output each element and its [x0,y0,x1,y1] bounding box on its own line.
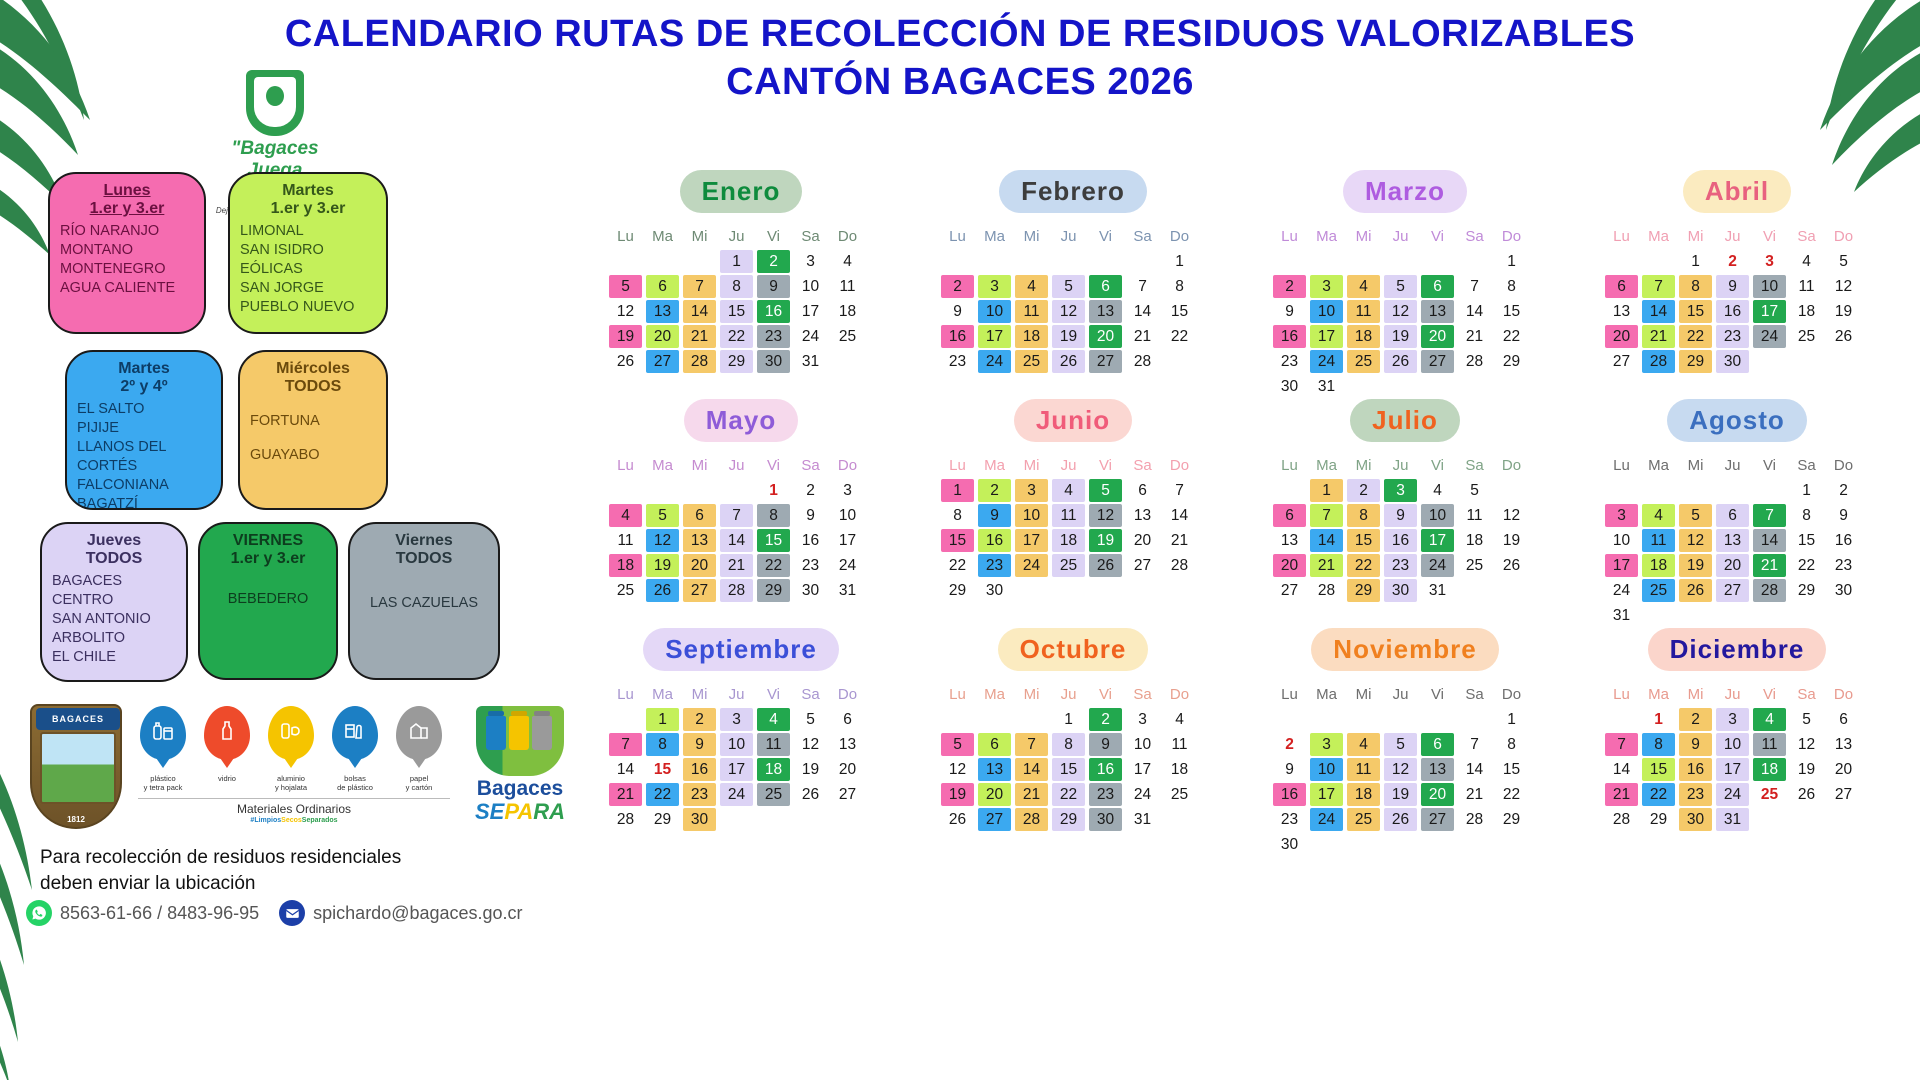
day-cell-collection[interactable]: 17 [1605,554,1638,577]
day-cell[interactable]: 21 [1126,325,1159,348]
day-cell-collection[interactable]: 5 [609,275,642,298]
day-cell[interactable]: 23 [1827,554,1860,577]
day-cell[interactable]: 28 [1605,808,1638,831]
day-cell[interactable]: 30 [1827,579,1860,602]
day-cell-collection[interactable]: 12 [1679,529,1712,552]
day-cell[interactable]: 12 [941,758,974,781]
day-cell[interactable]: 1 [1790,479,1823,502]
day-cell-collection[interactable]: 19 [646,554,679,577]
day-cell[interactable]: 21 [1163,529,1196,552]
day-cell-collection[interactable]: 3 [720,708,753,731]
day-cell-collection[interactable]: 9 [1679,733,1712,756]
day-cell[interactable]: 19 [794,758,827,781]
day-cell[interactable]: 9 [1827,504,1860,527]
day-cell[interactable]: 13 [831,733,864,756]
day-cell[interactable]: 22 [1495,783,1528,806]
day-cell[interactable]: 14 [1163,504,1196,527]
day-cell-collection[interactable]: 8 [720,275,753,298]
day-cell-collection[interactable]: 2 [683,708,716,731]
day-cell-collection[interactable]: 25 [1642,579,1675,602]
day-cell-collection[interactable]: 5 [646,504,679,527]
day-cell[interactable]: 19 [1790,758,1823,781]
day-cell[interactable]: 27 [831,783,864,806]
route-card-miercoles[interactable]: Miércoles TODOS FORTUNA GUAYABO [238,350,388,510]
day-cell[interactable]: 14 [1605,758,1638,781]
day-cell-collection[interactable]: 24 [1753,325,1786,348]
day-cell-collection[interactable]: 18 [1015,325,1048,348]
day-cell-collection[interactable]: 16 [1273,783,1306,806]
day-cell-collection[interactable]: 19 [1384,325,1417,348]
day-cell[interactable]: 12 [1827,275,1860,298]
day-cell[interactable]: 10 [1126,733,1159,756]
day-cell-collection[interactable]: 26 [1384,350,1417,373]
day-cell[interactable]: 9 [1273,300,1306,323]
day-cell[interactable]: 9 [1273,758,1306,781]
day-cell-collection[interactable]: 20 [1421,783,1454,806]
day-cell-collection[interactable]: 11 [1642,529,1675,552]
day-cell[interactable]: 12 [794,733,827,756]
day-cell[interactable]: 16 [794,529,827,552]
day-cell[interactable]: 13 [1827,733,1860,756]
day-cell[interactable]: 28 [1126,350,1159,373]
day-cell-holiday[interactable]: 1 [1642,708,1675,731]
day-cell-collection[interactable]: 16 [683,758,716,781]
day-cell[interactable]: 1 [1052,708,1085,731]
day-cell[interactable]: 31 [794,350,827,373]
day-cell-collection[interactable]: 28 [1642,350,1675,373]
day-cell-collection[interactable]: 13 [683,529,716,552]
day-cell-collection[interactable]: 21 [683,325,716,348]
day-cell[interactable]: 29 [1495,350,1528,373]
day-cell[interactable]: 29 [646,808,679,831]
day-cell[interactable]: 10 [831,504,864,527]
day-cell-collection[interactable]: 18 [1347,325,1380,348]
day-cell[interactable]: 6 [831,708,864,731]
day-cell[interactable]: 29 [941,579,974,602]
day-cell-collection[interactable]: 14 [1642,300,1675,323]
day-cell[interactable]: 8 [941,504,974,527]
day-cell[interactable]: 11 [1790,275,1823,298]
day-cell[interactable]: 6 [1827,708,1860,731]
day-cell-collection[interactable]: 14 [1753,529,1786,552]
day-cell[interactable]: 25 [1163,783,1196,806]
day-cell-collection[interactable]: 22 [1642,783,1675,806]
day-cell-collection[interactable]: 15 [1052,758,1085,781]
day-cell[interactable]: 15 [1790,529,1823,552]
day-cell[interactable]: 30 [1273,375,1306,398]
day-cell[interactable]: 31 [831,579,864,602]
day-cell-collection[interactable]: 15 [720,300,753,323]
day-cell[interactable]: 26 [1790,783,1823,806]
route-card-viernes-1er-3er[interactable]: VIERNES 1.er y 3.er BEBEDERO [198,522,338,680]
day-cell-collection[interactable]: 3 [1015,479,1048,502]
day-cell[interactable]: 15 [1163,300,1196,323]
day-cell-collection[interactable]: 13 [1421,300,1454,323]
day-cell[interactable]: 25 [831,325,864,348]
day-cell[interactable]: 23 [1273,350,1306,373]
day-cell[interactable]: 27 [1827,783,1860,806]
day-cell[interactable]: 1 [1679,250,1712,273]
day-cell[interactable]: 26 [1827,325,1860,348]
day-cell-collection[interactable]: 27 [1421,808,1454,831]
day-cell[interactable]: 15 [1495,300,1528,323]
day-cell-collection[interactable]: 6 [1089,275,1122,298]
day-cell-collection[interactable]: 5 [941,733,974,756]
day-cell-collection[interactable]: 11 [757,733,790,756]
day-cell-collection[interactable]: 9 [1384,504,1417,527]
day-cell-collection[interactable]: 7 [1605,733,1638,756]
day-cell[interactable]: 13 [1126,504,1159,527]
day-cell-collection[interactable]: 2 [941,275,974,298]
day-cell-collection[interactable]: 17 [720,758,753,781]
day-cell[interactable]: 18 [1163,758,1196,781]
day-cell-collection[interactable]: 21 [609,783,642,806]
day-cell-collection[interactable]: 10 [1421,504,1454,527]
day-cell-collection[interactable]: 10 [1753,275,1786,298]
day-cell[interactable]: 8 [1163,275,1196,298]
day-cell-collection[interactable]: 18 [1052,529,1085,552]
route-card-lunes[interactable]: Lunes 1.er y 3.er RÍO NARANJO MONTANO MO… [48,172,206,334]
route-card-martes-2-4[interactable]: Martes 2º y 4º EL SALTO PIJIJE LLANOS DE… [65,350,223,510]
day-cell-collection[interactable]: 22 [1052,783,1085,806]
day-cell-collection[interactable]: 23 [978,554,1011,577]
day-cell-collection[interactable]: 25 [1347,350,1380,373]
day-cell-collection[interactable]: 12 [1089,504,1122,527]
day-cell-collection[interactable]: 23 [757,325,790,348]
day-cell-collection[interactable]: 22 [757,554,790,577]
day-cell[interactable]: 31 [1605,604,1638,627]
day-cell-collection[interactable]: 17 [1753,300,1786,323]
day-cell-collection[interactable]: 4 [1015,275,1048,298]
day-cell-collection[interactable]: 22 [720,325,753,348]
day-cell[interactable]: 17 [1126,758,1159,781]
day-cell[interactable]: 9 [794,504,827,527]
day-cell-holiday[interactable]: 15 [646,758,679,781]
day-cell[interactable]: 17 [831,529,864,552]
day-cell-collection[interactable]: 26 [1679,579,1712,602]
day-cell-collection[interactable]: 20 [646,325,679,348]
day-cell[interactable]: 31 [1421,579,1454,602]
day-cell-collection[interactable]: 24 [1421,554,1454,577]
day-cell-holiday[interactable]: 1 [757,479,790,502]
day-cell-collection[interactable]: 6 [1273,504,1306,527]
day-cell-collection[interactable]: 16 [941,325,974,348]
day-cell[interactable]: 25 [609,579,642,602]
day-cell-collection[interactable]: 17 [1310,325,1343,348]
day-cell-collection[interactable]: 12 [1384,758,1417,781]
day-cell-collection[interactable]: 8 [1052,733,1085,756]
day-cell[interactable]: 11 [831,275,864,298]
day-cell[interactable]: 25 [1458,554,1491,577]
day-cell[interactable]: 20 [1126,529,1159,552]
day-cell[interactable]: 4 [1421,479,1454,502]
day-cell-collection[interactable]: 29 [720,350,753,373]
day-cell-collection[interactable]: 4 [1347,733,1380,756]
day-cell-collection[interactable]: 27 [1089,350,1122,373]
day-cell-collection[interactable]: 5 [1089,479,1122,502]
whatsapp-icon[interactable] [26,900,52,926]
day-cell-collection[interactable]: 5 [1052,275,1085,298]
day-cell[interactable]: 21 [1458,325,1491,348]
day-cell-collection[interactable]: 14 [683,300,716,323]
day-cell[interactable]: 26 [794,783,827,806]
day-cell[interactable]: 8 [1495,275,1528,298]
day-cell-collection[interactable]: 30 [1384,579,1417,602]
day-cell-collection[interactable]: 3 [1605,504,1638,527]
day-cell-collection[interactable]: 23 [683,783,716,806]
day-cell-collection[interactable]: 11 [1347,300,1380,323]
day-cell-collection[interactable]: 11 [1347,758,1380,781]
day-cell[interactable]: 23 [1273,808,1306,831]
day-cell[interactable]: 13 [1605,300,1638,323]
day-cell-collection[interactable]: 8 [1642,733,1675,756]
day-cell-collection[interactable]: 24 [1310,808,1343,831]
day-cell[interactable]: 8 [1790,504,1823,527]
day-cell[interactable]: 19 [1495,529,1528,552]
day-cell-collection[interactable]: 11 [1052,504,1085,527]
day-cell-collection[interactable]: 16 [1679,758,1712,781]
day-cell-collection[interactable]: 21 [1310,554,1343,577]
day-cell[interactable]: 28 [609,808,642,831]
day-cell-collection[interactable]: 19 [941,783,974,806]
day-cell-collection[interactable]: 6 [1421,275,1454,298]
day-cell-collection[interactable]: 13 [978,758,1011,781]
day-cell-collection[interactable]: 21 [1753,554,1786,577]
day-cell-collection[interactable]: 14 [1310,529,1343,552]
day-cell-collection[interactable]: 12 [646,529,679,552]
day-cell-collection[interactable]: 16 [1273,325,1306,348]
day-cell-collection[interactable]: 7 [1015,733,1048,756]
day-cell-collection[interactable]: 2 [757,250,790,273]
day-cell[interactable]: 5 [1458,479,1491,502]
day-cell-collection[interactable]: 25 [757,783,790,806]
day-cell-collection[interactable]: 7 [609,733,642,756]
day-cell-collection[interactable]: 1 [720,250,753,273]
day-cell[interactable]: 5 [1790,708,1823,731]
day-cell-collection[interactable]: 23 [1384,554,1417,577]
day-cell[interactable]: 27 [1126,554,1159,577]
day-cell-collection[interactable]: 4 [757,708,790,731]
day-cell[interactable]: 18 [1458,529,1491,552]
day-cell-collection[interactable]: 7 [720,504,753,527]
day-cell-collection[interactable]: 11 [1753,733,1786,756]
day-cell-holiday[interactable]: 3 [1753,250,1786,273]
day-cell-collection[interactable]: 15 [757,529,790,552]
day-cell-collection[interactable]: 28 [683,350,716,373]
day-cell-collection[interactable]: 6 [978,733,1011,756]
day-cell[interactable]: 1 [1495,708,1528,731]
day-cell-collection[interactable]: 9 [1716,275,1749,298]
day-cell-collection[interactable]: 24 [1015,554,1048,577]
day-cell-collection[interactable]: 29 [1052,808,1085,831]
day-cell[interactable]: 7 [1163,479,1196,502]
day-cell-collection[interactable]: 10 [1310,758,1343,781]
day-cell-collection[interactable]: 25 [1052,554,1085,577]
day-cell-collection[interactable]: 8 [757,504,790,527]
day-cell[interactable]: 3 [831,479,864,502]
day-cell-collection[interactable]: 6 [683,504,716,527]
day-cell-collection[interactable]: 30 [1679,808,1712,831]
day-cell[interactable]: 2 [1827,479,1860,502]
day-cell-collection[interactable]: 8 [646,733,679,756]
day-cell-collection[interactable]: 13 [1089,300,1122,323]
day-cell[interactable]: 27 [1273,579,1306,602]
day-cell[interactable]: 24 [1126,783,1159,806]
day-cell-collection[interactable]: 1 [646,708,679,731]
day-cell-collection[interactable]: 2 [978,479,1011,502]
day-cell-collection[interactable]: 21 [1642,325,1675,348]
day-cell[interactable]: 4 [831,250,864,273]
day-cell-collection[interactable]: 17 [1310,783,1343,806]
day-cell[interactable]: 17 [794,300,827,323]
day-cell-collection[interactable]: 29 [1347,579,1380,602]
day-cell-collection[interactable]: 9 [1089,733,1122,756]
day-cell-collection[interactable]: 15 [941,529,974,552]
day-cell-collection[interactable]: 3 [978,275,1011,298]
day-cell[interactable]: 3 [1126,708,1159,731]
day-cell-collection[interactable]: 4 [1642,504,1675,527]
day-cell-collection[interactable]: 4 [1347,275,1380,298]
day-cell[interactable]: 10 [1605,529,1638,552]
day-cell[interactable]: 15 [1495,758,1528,781]
day-cell-collection[interactable]: 17 [1015,529,1048,552]
day-cell-collection[interactable]: 20 [1421,325,1454,348]
day-cell-collection[interactable]: 5 [1384,733,1417,756]
day-cell-collection[interactable]: 30 [1089,808,1122,831]
day-cell-collection[interactable]: 15 [1642,758,1675,781]
day-cell[interactable]: 24 [1605,579,1638,602]
day-cell-collection[interactable]: 3 [1310,733,1343,756]
day-cell-collection[interactable]: 28 [1753,579,1786,602]
day-cell[interactable]: 20 [1827,758,1860,781]
day-cell[interactable]: 18 [831,300,864,323]
day-cell-collection[interactable]: 28 [720,579,753,602]
day-cell-collection[interactable]: 2 [1347,479,1380,502]
day-cell[interactable]: 31 [1126,808,1159,831]
day-cell-collection[interactable]: 17 [1421,529,1454,552]
day-cell-collection[interactable]: 20 [1716,554,1749,577]
day-cell-collection[interactable]: 7 [683,275,716,298]
day-cell-collection[interactable]: 10 [1015,504,1048,527]
day-cell[interactable]: 24 [794,325,827,348]
day-cell-collection[interactable]: 20 [1089,325,1122,348]
day-cell-collection[interactable]: 26 [1089,554,1122,577]
day-cell-collection[interactable]: 5 [1384,275,1417,298]
day-cell[interactable]: 5 [794,708,827,731]
route-card-martes-1er-3er[interactable]: Martes 1.er y 3.er LIMONAL SAN ISIDRO EÓ… [228,172,388,334]
day-cell-collection[interactable]: 14 [1015,758,1048,781]
day-cell[interactable]: 9 [941,300,974,323]
day-cell-collection[interactable]: 25 [1347,808,1380,831]
day-cell-collection[interactable]: 13 [646,300,679,323]
day-cell-collection[interactable]: 4 [609,504,642,527]
day-cell-collection[interactable]: 19 [1089,529,1122,552]
day-cell-collection[interactable]: 30 [683,808,716,831]
day-cell[interactable]: 29 [1642,808,1675,831]
day-cell-collection[interactable]: 29 [1679,350,1712,373]
day-cell-collection[interactable]: 29 [757,579,790,602]
day-cell-collection[interactable]: 27 [1716,579,1749,602]
day-cell-collection[interactable]: 19 [1384,783,1417,806]
day-cell-collection[interactable]: 8 [1347,504,1380,527]
day-cell-collection[interactable]: 16 [1716,300,1749,323]
day-cell-collection[interactable]: 2 [1273,275,1306,298]
day-cell-collection[interactable]: 27 [646,350,679,373]
day-cell[interactable]: 24 [831,554,864,577]
day-cell[interactable]: 1 [1495,250,1528,273]
day-cell-collection[interactable]: 24 [1716,783,1749,806]
day-cell[interactable]: 11 [609,529,642,552]
day-cell-collection[interactable]: 26 [1052,350,1085,373]
day-cell-collection[interactable]: 4 [1052,479,1085,502]
day-cell-holiday[interactable]: 25 [1753,783,1786,806]
day-cell-collection[interactable]: 3 [1310,275,1343,298]
day-cell-collection[interactable]: 16 [757,300,790,323]
route-card-jueves[interactable]: Jueves TODOS BAGACES CENTRO SAN ANTONIO … [40,522,188,682]
day-cell[interactable]: 16 [1827,529,1860,552]
day-cell-collection[interactable]: 7 [1310,504,1343,527]
day-cell-collection[interactable]: 30 [1716,350,1749,373]
day-cell-collection[interactable]: 10 [720,733,753,756]
day-cell[interactable]: 28 [1310,579,1343,602]
day-cell[interactable]: 7 [1458,733,1491,756]
day-cell-collection[interactable]: 24 [720,783,753,806]
day-cell-collection[interactable]: 20 [978,783,1011,806]
day-cell[interactable]: 1 [1163,250,1196,273]
day-cell[interactable]: 2 [794,479,827,502]
mail-icon[interactable] [279,900,305,926]
day-cell[interactable]: 22 [941,554,974,577]
day-cell-collection[interactable]: 20 [683,554,716,577]
day-cell-collection[interactable]: 16 [1384,529,1417,552]
day-cell-collection[interactable]: 26 [646,579,679,602]
day-cell[interactable]: 26 [609,350,642,373]
day-cell[interactable]: 10 [794,275,827,298]
day-cell[interactable]: 14 [1458,758,1491,781]
day-cell-collection[interactable]: 22 [1347,554,1380,577]
day-cell[interactable]: 7 [1458,275,1491,298]
day-cell-collection[interactable]: 6 [646,275,679,298]
day-cell-collection[interactable]: 28 [1015,808,1048,831]
day-cell[interactable]: 22 [1495,325,1528,348]
day-cell[interactable]: 26 [941,808,974,831]
day-cell-collection[interactable]: 24 [978,350,1011,373]
day-cell[interactable]: 5 [1827,250,1860,273]
day-cell-collection[interactable]: 24 [1310,350,1343,373]
day-cell[interactable]: 7 [1126,275,1159,298]
day-cell-collection[interactable]: 7 [1753,504,1786,527]
day-cell[interactable]: 4 [1790,250,1823,273]
day-cell-collection[interactable]: 31 [1716,808,1749,831]
day-cell-collection[interactable]: 9 [757,275,790,298]
day-cell[interactable]: 30 [978,579,1011,602]
day-cell[interactable]: 29 [1790,579,1823,602]
day-cell-collection[interactable]: 22 [646,783,679,806]
day-cell-collection[interactable]: 19 [1679,554,1712,577]
day-cell-collection[interactable]: 9 [683,733,716,756]
day-cell-collection[interactable]: 11 [1015,300,1048,323]
day-cell[interactable]: 26 [1495,554,1528,577]
day-cell[interactable]: 23 [794,554,827,577]
day-cell[interactable]: 28 [1163,554,1196,577]
day-cell[interactable]: 20 [831,758,864,781]
day-cell[interactable]: 31 [1310,375,1343,398]
day-cell-collection[interactable]: 16 [1089,758,1122,781]
day-cell-collection[interactable]: 10 [978,300,1011,323]
day-cell-collection[interactable]: 10 [1310,300,1343,323]
day-cell-collection[interactable]: 18 [609,554,642,577]
day-cell-collection[interactable]: 2 [1089,708,1122,731]
